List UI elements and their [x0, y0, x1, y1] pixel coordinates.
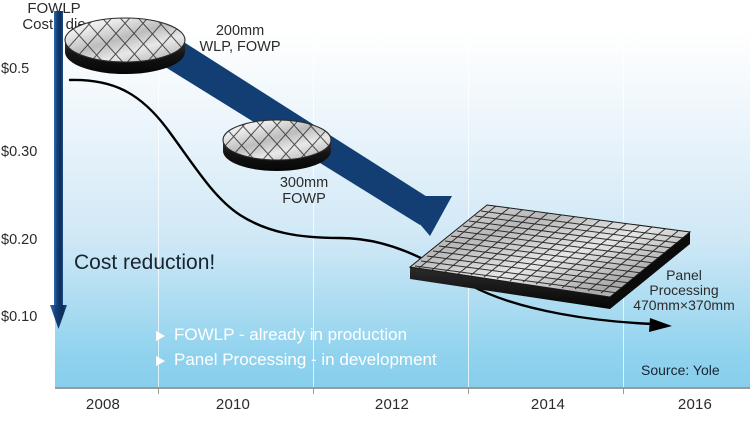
callout-panel: Panel Processing 470mm×370mm	[620, 268, 748, 313]
callout-300mm-line1: 300mm	[280, 175, 328, 191]
y-tick-label: $0.10	[0, 309, 55, 325]
x-tick	[623, 387, 624, 394]
x-tick-label: 2012	[347, 396, 437, 413]
chart-root: FOWLP Cost / die $0.5 $0.30 $0.20 $0.10 …	[0, 0, 750, 421]
callout-panel-line2: Processing	[649, 282, 718, 298]
callout-300mm-line2: FOWP	[282, 191, 326, 207]
gridline-2014	[623, 0, 624, 388]
y-tick-label: $0.20	[0, 232, 55, 248]
y-tick-label: $0.30	[0, 144, 55, 160]
x-tick-label: 2010	[188, 396, 278, 413]
x-tick	[313, 387, 314, 394]
bullet-item: Panel Processing - in development	[156, 347, 586, 372]
x-tick	[468, 387, 469, 394]
callout-200mm-line1: 200mm	[216, 23, 264, 39]
triangle-bullet-icon	[156, 356, 165, 366]
x-tick	[158, 387, 159, 394]
bullet-text: FOWLP - already in production	[174, 322, 407, 347]
triangle-bullet-icon	[156, 331, 165, 341]
bullet-text: Panel Processing - in development	[174, 347, 437, 372]
callout-panel-line1: Panel	[666, 267, 702, 283]
callout-300mm: 300mm FOWP	[258, 175, 350, 207]
callout-panel-line3: 470mm×370mm	[633, 297, 735, 313]
source-label: Source: Yole	[641, 362, 720, 378]
x-axis-line	[55, 387, 750, 389]
bullet-list: FOWLP - already in production Panel Proc…	[156, 322, 586, 372]
callout-200mm-line2: WLP, FOWP	[199, 39, 280, 55]
y-axis-labels: $0.5 $0.30 $0.20 $0.10	[0, 0, 55, 421]
callout-200mm: 200mm WLP, FOWP	[185, 23, 295, 55]
y-tick-label: $0.5	[0, 61, 55, 77]
x-tick-label: 2016	[650, 396, 740, 413]
x-tick-label: 2008	[58, 396, 148, 413]
bullet-item: FOWLP - already in production	[156, 322, 586, 347]
cost-reduction-label: Cost reduction!	[74, 251, 215, 275]
x-tick-label: 2014	[503, 396, 593, 413]
